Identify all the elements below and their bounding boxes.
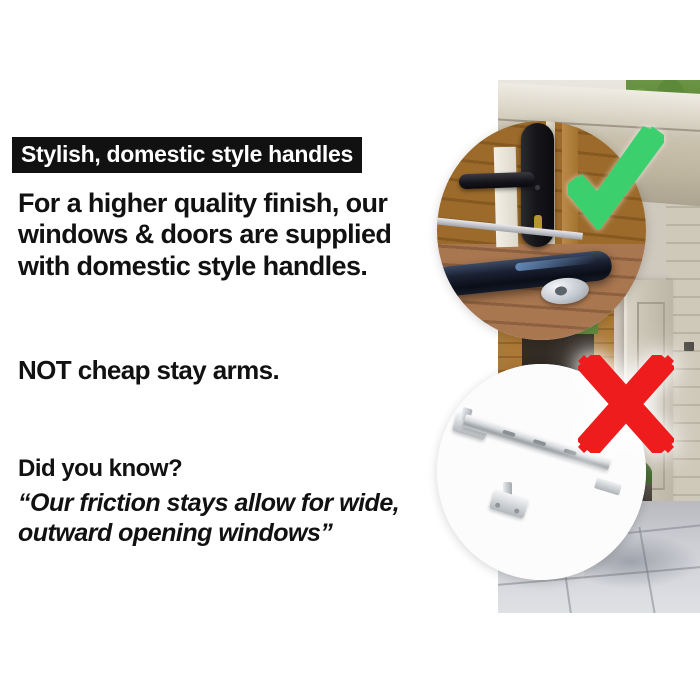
check-icon: [568, 126, 664, 230]
stay-arm-slot: [563, 448, 577, 456]
did-you-know-label: Did you know?: [18, 455, 182, 483]
bracket-fixing-hole: [514, 508, 520, 514]
stay-arm-slot: [502, 430, 516, 438]
wall-fitting: [684, 342, 694, 351]
lever-highlight: [515, 255, 597, 271]
bracket-fixing-hole: [495, 502, 501, 508]
emphasis-line: NOT cheap stay arms.: [18, 355, 438, 386]
black-lever-handle: [459, 172, 535, 190]
infographic-canvas: Stylish, domestic style handles For a hi…: [0, 0, 700, 700]
did-you-know-quote: “Our friction stays allow for wide, outw…: [18, 488, 438, 548]
headline-banner: Stylish, domestic style handles: [12, 137, 362, 173]
cross-icon: [578, 355, 674, 453]
stay-arm-slot: [533, 439, 547, 447]
body-paragraph: For a higher quality finish, our windows…: [18, 188, 438, 282]
plate-screw: [535, 185, 540, 190]
rosette-keyway: [555, 286, 568, 296]
